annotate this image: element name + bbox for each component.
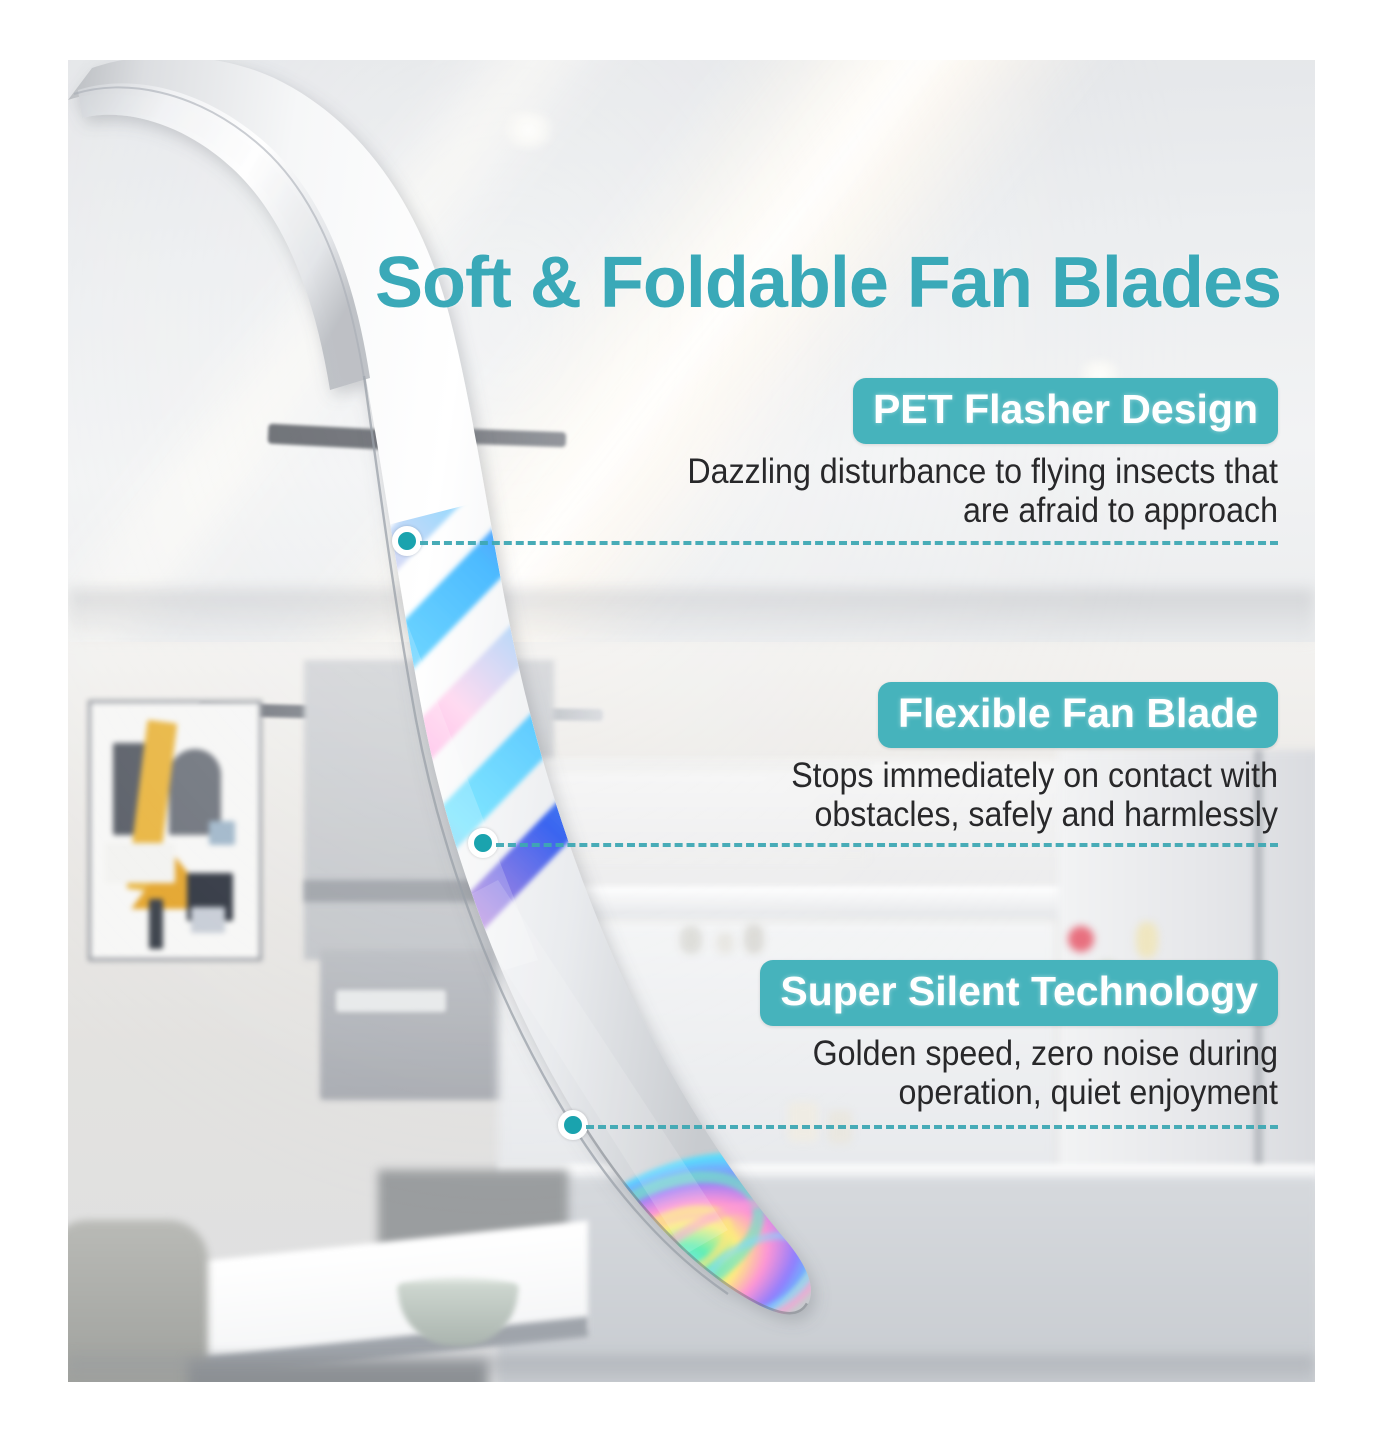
feature-description-3: Golden speed, zero noise during operatio… [165, 1034, 1278, 1113]
feature-description-2-line1: Stops immediately on contact with [165, 756, 1278, 796]
feature-block-3: Super Silent Technology Golden speed, ze… [68, 960, 1278, 1113]
feature-description-3-line1: Golden speed, zero noise during [165, 1034, 1278, 1074]
callout-dot-3 [558, 1110, 588, 1140]
image-canvas: Soft & Foldable Fan Blades PET Flasher D… [0, 0, 1383, 1440]
feature-description-1-line1: Dazzling disturbance to flying insects t… [165, 452, 1278, 492]
callout-dash-2 [496, 843, 1278, 847]
feature-description-2-line2: obstacles, safely and harmlessly [165, 795, 1278, 835]
feature-badge-3: Super Silent Technology [760, 960, 1278, 1026]
feature-badge-2: Flexible Fan Blade [878, 682, 1278, 748]
feature-block-2: Flexible Fan Blade Stops immediately on … [68, 682, 1278, 835]
callout-dash-1 [420, 541, 1278, 545]
feature-description-2: Stops immediately on contact with obstac… [165, 756, 1278, 835]
page-title: Soft & Foldable Fan Blades [368, 242, 1288, 324]
feature-description-1: Dazzling disturbance to flying insects t… [165, 452, 1278, 531]
callout-dash-3 [586, 1125, 1278, 1129]
feature-badge-1: PET Flasher Design [853, 378, 1278, 444]
feature-block-1: PET Flasher Design Dazzling disturbance … [68, 378, 1278, 531]
feature-description-1-line2: are afraid to approach [165, 491, 1278, 531]
product-feature-photo: Soft & Foldable Fan Blades PET Flasher D… [68, 60, 1315, 1382]
feature-description-3-line2: operation, quiet enjoyment [165, 1073, 1278, 1113]
